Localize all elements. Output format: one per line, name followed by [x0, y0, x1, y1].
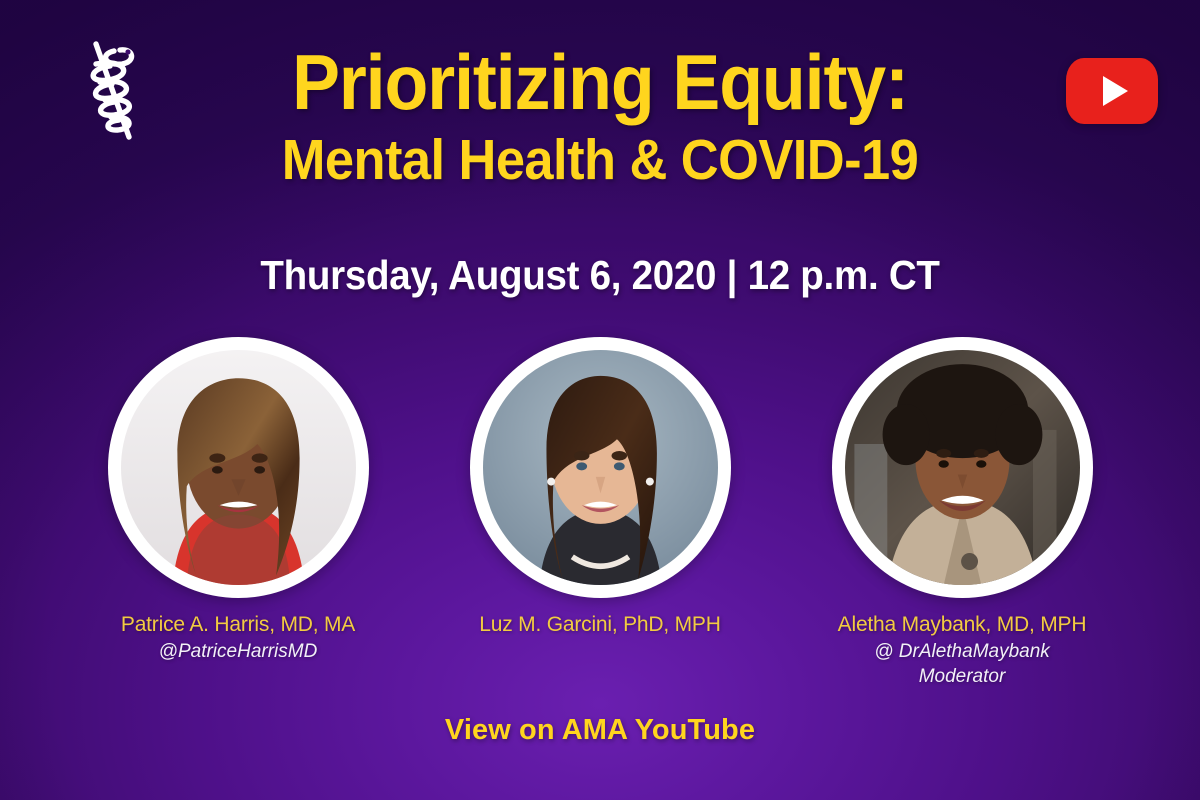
event-promo-poster: Prioritizing Equity: Mental Health & COV… — [0, 0, 1200, 800]
speaker-name: Luz M. Garcini, PhD, MPH — [470, 612, 731, 638]
page-title: Prioritizing Equity: — [48, 44, 1152, 120]
speaker-card: Patrice A. Harris, MD, MA @PatriceHarris… — [108, 337, 369, 665]
event-datetime: Thursday, August 6, 2020 | 12 p.m. CT — [36, 252, 1164, 299]
avatar — [121, 350, 356, 585]
speaker-handle[interactable]: @ DrAlethaMaybank — [832, 640, 1093, 665]
speaker-name: Patrice A. Harris, MD, MA — [108, 612, 369, 638]
speaker-name: Aletha Maybank, MD, MPH — [832, 612, 1093, 638]
avatar-ring — [470, 337, 731, 598]
speaker-list: Patrice A. Harris, MD, MA @PatriceHarris… — [0, 337, 1200, 690]
speaker-card: Aletha Maybank, MD, MPH @ DrAlethaMayban… — [832, 337, 1093, 690]
speaker-handle[interactable]: @PatriceHarrisMD — [108, 640, 369, 665]
speaker-card: Luz M. Garcini, PhD, MPH — [470, 337, 731, 640]
ama-rod-of-asclepius-icon — [72, 38, 158, 142]
avatar-ring — [108, 337, 369, 598]
headline-block: Prioritizing Equity: Mental Health & COV… — [0, 44, 1200, 189]
avatar — [845, 350, 1080, 585]
avatar-ring — [832, 337, 1093, 598]
view-on-youtube-link[interactable]: View on AMA YouTube — [0, 714, 1200, 747]
youtube-play-button[interactable] — [1066, 58, 1158, 124]
play-triangle-icon — [1103, 76, 1128, 106]
speaker-role: Moderator — [832, 665, 1093, 690]
page-subtitle: Mental Health & COVID-19 — [48, 132, 1152, 189]
avatar — [483, 350, 718, 585]
